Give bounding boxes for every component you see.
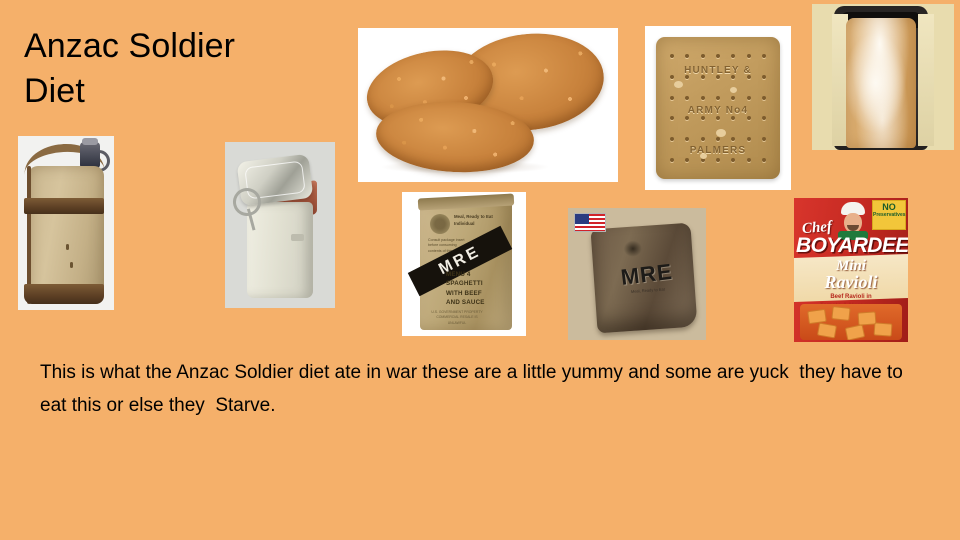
canteen-illustration [18, 136, 114, 310]
mre-grey-bag: MRE Meal, Ready to Eat [590, 223, 697, 334]
presentation-slide: Anzac Soldier Diet [0, 0, 960, 540]
badge-preservatives-label: Preservatives [873, 213, 905, 219]
hardtack-body: HUNTLEY & ARMY No4 PALMERS [656, 37, 780, 179]
image-bully-beef-tin [225, 142, 335, 308]
boyardee-food-photo [800, 304, 902, 340]
hardtack-illustration: HUNTLEY & ARMY No4 PALMERS [645, 26, 791, 190]
chef-portrait-icon [838, 202, 868, 238]
boyardee-illustration: NO Preservatives Chef BOYARDEE Mini Ravi… [794, 198, 908, 342]
tin-body [247, 202, 313, 298]
page-title: Anzac Soldier Diet [24, 24, 354, 114]
anzac-biscuits-illustration [358, 28, 618, 182]
image-iced-loaf [812, 4, 954, 150]
mre-grey-illustration: MRE Meal, Ready to Eat [568, 208, 706, 340]
hardtack-text-line2: ARMY No4 [656, 105, 780, 116]
us-flag-icon [574, 213, 606, 232]
image-mre-tan-pouch: Meal, Ready to Eat Individual Consult pa… [402, 192, 526, 336]
image-hardtack-biscuit: HUNTLEY & ARMY No4 PALMERS [645, 26, 791, 190]
canteen-cap [80, 142, 100, 168]
canteen-band-top [24, 198, 104, 214]
image-anzac-biscuits [358, 28, 618, 182]
image-mre-grey-pouch: MRE Meal, Ready to Eat [568, 208, 706, 340]
canteen-speck [70, 262, 73, 268]
slide-body-text: This is what the Anzac Soldier diet ate … [40, 356, 910, 423]
mre-grey-seal-icon [623, 240, 642, 257]
mre-seal-icon [430, 214, 450, 234]
tin-illustration [225, 142, 335, 308]
mre-tan-footer: U.S. GOVERNMENT PROPERTY COMMERCIAL RESA… [428, 310, 486, 326]
hardtack-text-line1: HUNTLEY & [656, 65, 780, 76]
badge-no-label: NO [873, 203, 905, 212]
image-soldier-canteen [18, 136, 114, 310]
loaf-cake [846, 18, 916, 148]
hardtack-crumb [730, 87, 737, 93]
no-preservatives-badge: NO Preservatives [872, 200, 906, 230]
boyardee-can-label: NO Preservatives Chef BOYARDEE Mini Ravi… [794, 198, 908, 342]
mre-tan-illustration: Meal, Ready to Eat Individual Consult pa… [402, 192, 526, 336]
image-chef-boyardee-can: NO Preservatives Chef BOYARDEE Mini Ravi… [794, 198, 908, 342]
canteen-speck [66, 244, 69, 250]
boyardee-product-word: Ravioli [794, 272, 908, 293]
loaf-paper-right [918, 14, 934, 146]
canteen-band-bottom [24, 284, 104, 304]
loaf-illustration [812, 4, 954, 150]
loaf-icing-sugar [846, 18, 916, 148]
canteen-body [28, 166, 104, 302]
hardtack-text-line3: PALMERS [656, 145, 780, 156]
hardtack-crumb [716, 129, 726, 137]
chef-face-icon [844, 213, 862, 233]
mre-tan-menu-label: MENU 4 SPAGHETTI WITH BEEF AND SAUCE [446, 270, 494, 307]
hardtack-crumb [674, 81, 683, 88]
